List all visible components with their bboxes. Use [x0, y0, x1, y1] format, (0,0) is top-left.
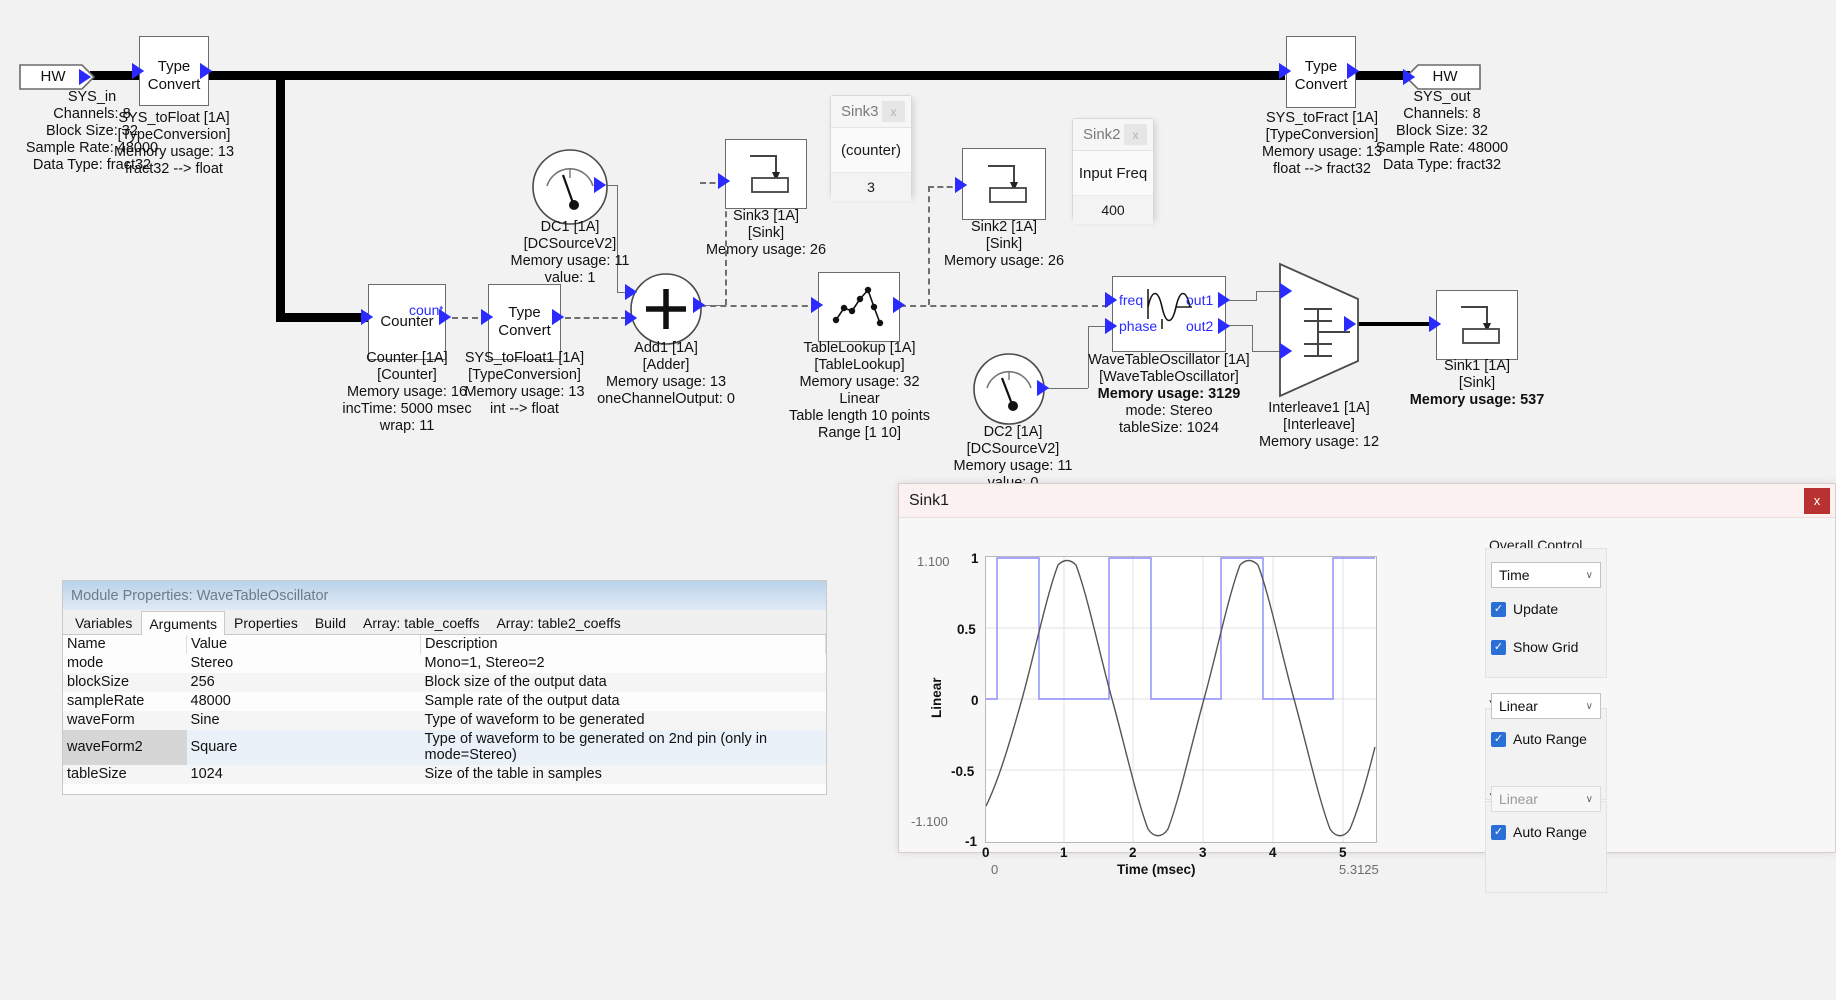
- y-auto-range-row[interactable]: ✓ Auto Range: [1491, 731, 1587, 747]
- scope-titlebar: Sink1 x: [899, 484, 1835, 518]
- sink1-in-port[interactable]: [1430, 317, 1441, 331]
- wire-tofloat1-add1: [565, 317, 627, 319]
- table-row[interactable]: sampleRate 48000 Sample rate of the outp…: [63, 692, 826, 711]
- sys-out-in-port[interactable]: [1404, 70, 1415, 84]
- wto-label-mode: mode: Stereo: [1074, 403, 1264, 420]
- wire-tofract-sysout: [1355, 71, 1410, 80]
- sink3-popup-close-icon[interactable]: x: [882, 101, 905, 122]
- col-header-name: Name: [63, 635, 187, 654]
- counter-out-port[interactable]: [440, 310, 451, 324]
- show-grid-checkbox[interactable]: ✓: [1491, 640, 1506, 655]
- sink2-value-popup[interactable]: Sink2 x Input Freq 400: [1072, 118, 1154, 219]
- tab-variables[interactable]: Variables: [67, 612, 140, 634]
- sink3-in-port[interactable]: [719, 174, 730, 188]
- x-axis-value: Linear: [1499, 791, 1538, 807]
- wire-out1-a: [1226, 300, 1256, 301]
- tab-properties[interactable]: Properties: [226, 612, 306, 634]
- wto-out1-port[interactable]: [1219, 293, 1230, 307]
- scope-body: 1.100 -1.100 0 5.3125 Linear 1 0.5 0 -0.…: [899, 518, 1835, 854]
- interleave1-in2-port[interactable]: [1281, 344, 1292, 358]
- row-name: mode: [63, 654, 187, 673]
- wire-interleave-sink1: [1355, 322, 1430, 326]
- wto-out2-label: out2: [1186, 318, 1213, 334]
- row-name: sampleRate: [63, 692, 187, 711]
- range-top-label: 1.100: [917, 554, 950, 569]
- sys-tofloat-label: SYS_toFloat [1A] [TypeConversion] Memory…: [84, 110, 264, 178]
- tablelookup-in-port[interactable]: [812, 298, 823, 312]
- module-properties-panel[interactable]: Module Properties: WaveTableOscillator V…: [62, 580, 827, 795]
- x-tick-label: 0: [982, 845, 990, 860]
- sys-in-inner-label: HW: [18, 68, 88, 86]
- tablelookup-label: TableLookup [1A] [TableLookup] Memory us…: [772, 340, 947, 442]
- y-axis-title: Linear: [929, 677, 944, 718]
- sink3-popup-value: 3: [831, 173, 911, 201]
- row-value[interactable]: 48000: [187, 692, 421, 711]
- counter-label: Counter [1A] [Counter] Memory usage: 16 …: [322, 350, 492, 435]
- close-icon[interactable]: x: [1804, 488, 1830, 514]
- range-bottom-label: -1.100: [911, 814, 948, 829]
- sink2-popup-close-icon[interactable]: x: [1124, 124, 1147, 145]
- overall-control-select[interactable]: Time ∨: [1491, 562, 1601, 588]
- sys-tofract-inner-label: Type Convert: [1286, 58, 1356, 94]
- wire-out1-v: [1256, 291, 1257, 301]
- x-axis-select[interactable]: Linear ∨: [1491, 786, 1601, 812]
- x-end-label: 5.3125: [1339, 862, 1379, 877]
- row-value[interactable]: 256: [187, 673, 421, 692]
- update-label: Update: [1513, 601, 1558, 617]
- row-value[interactable]: Square: [187, 730, 421, 765]
- overall-control-value: Time: [1499, 567, 1530, 583]
- interleave1-label: Interleave1 [1A] [Interleave] Memory usa…: [1240, 400, 1398, 451]
- sink3-popup-body: (counter): [831, 128, 911, 173]
- dc2-gauge-icon[interactable]: [972, 352, 1046, 426]
- row-name: tableSize: [63, 765, 187, 784]
- x-start-label: 0: [991, 862, 998, 877]
- add1-out-port[interactable]: [694, 298, 705, 312]
- module-properties-title: Module Properties: WaveTableOscillator: [63, 581, 826, 610]
- sys-tofloat1-out-port[interactable]: [553, 310, 564, 324]
- table-row[interactable]: tableSize 1024 Size of the table in samp…: [63, 765, 826, 784]
- wto-out1-label: out1: [1186, 292, 1213, 308]
- y-tick-label: -0.5: [951, 764, 974, 779]
- sink3-label: Sink3 [1A] [Sink] Memory usage: 26: [690, 208, 842, 259]
- wto-label-tablesize: tableSize: 1024: [1074, 420, 1264, 437]
- wto-label-line1: WaveTableOscillator [1A]: [1074, 352, 1264, 369]
- sink3-popup-title: Sink3: [841, 103, 879, 120]
- sink3-value-popup[interactable]: Sink3 x (counter) 3: [830, 95, 912, 196]
- row-name: waveForm: [63, 711, 187, 730]
- y-auto-range-label: Auto Range: [1513, 731, 1587, 747]
- x-auto-range-row[interactable]: ✓ Auto Range: [1491, 824, 1587, 840]
- add1-in1-port[interactable]: [626, 285, 637, 299]
- x-tick-label: 3: [1199, 845, 1207, 860]
- wto-freq-in-port[interactable]: [1106, 293, 1117, 307]
- chevron-down-icon: ∨: [1586, 701, 1593, 712]
- row-value[interactable]: Stereo: [187, 654, 421, 673]
- sys-tofloat1-label: SYS_toFloat1 [1A] [TypeConversion] Memor…: [437, 350, 612, 418]
- add1-label: Add1 [1A] [Adder] Memory usage: 13 oneCh…: [576, 340, 756, 408]
- y-auto-range-checkbox[interactable]: ✓: [1491, 732, 1506, 747]
- row-description: Sample rate of the output data: [421, 692, 826, 711]
- arguments-table: Name Value Description mode Stereo Mono=…: [63, 635, 826, 784]
- sink3-popup-titlebar: Sink3 x: [831, 96, 911, 128]
- sink1-sink-icon: [1455, 303, 1507, 347]
- x-auto-range-label: Auto Range: [1513, 824, 1587, 840]
- dc2-label: DC2 [1A] [DCSourceV2] Memory usage: 11 v…: [928, 424, 1098, 492]
- y-tick-label: 1: [971, 551, 979, 566]
- wire-add1-tablelookup: [700, 305, 818, 307]
- table-header-row: Name Value Description: [63, 635, 826, 654]
- sys-tofloat-inner-label: Type Convert: [139, 58, 209, 94]
- wto-label-memory: Memory usage: 3129: [1074, 386, 1264, 403]
- x-tick-label: 2: [1129, 845, 1137, 860]
- tablelookup-polyline-icon: [830, 280, 888, 334]
- wire-branch-sink2-up: [928, 186, 930, 305]
- scope-title-text: Sink1: [909, 492, 949, 510]
- update-checkbox-row[interactable]: ✓ Update: [1491, 601, 1558, 617]
- sys-tofloat1-in-port[interactable]: [482, 310, 493, 324]
- row-description: Type of waveform to be generated: [421, 711, 826, 730]
- wire-tofloat-bus: [207, 71, 1285, 80]
- tab-build[interactable]: Build: [307, 612, 354, 634]
- wto-phase-in-port[interactable]: [1106, 319, 1117, 333]
- x-tick-label: 1: [1060, 845, 1068, 860]
- wire-bus-to-counter: [276, 313, 368, 322]
- chevron-down-icon: ∨: [1586, 570, 1593, 581]
- tab-array-table-coeffs[interactable]: Array: table_coeffs: [355, 612, 487, 634]
- y-axis-select[interactable]: Linear ∨: [1491, 693, 1601, 719]
- x-axis-group: [1485, 801, 1607, 893]
- col-header-value: Value: [187, 635, 421, 654]
- x-auto-range-checkbox[interactable]: ✓: [1491, 825, 1506, 840]
- dc1-out-port[interactable]: [595, 178, 606, 192]
- tab-arguments[interactable]: Arguments: [141, 611, 225, 635]
- sink2-popup-value: 400: [1073, 196, 1153, 224]
- row-description: Type of waveform to be generated on 2nd …: [421, 730, 826, 765]
- sys-tofloat-out-port[interactable]: [201, 64, 212, 78]
- sys-tofloat-in-port[interactable]: [133, 64, 144, 78]
- wire-bus-drop: [276, 71, 285, 321]
- plot-area[interactable]: [985, 556, 1377, 843]
- table-row[interactable]: waveForm Sine Type of waveform to be gen…: [63, 711, 826, 730]
- sink2-sink-icon: [982, 162, 1034, 206]
- chevron-down-icon: ∨: [1586, 794, 1593, 805]
- row-description: Size of the table in samples: [421, 765, 826, 784]
- sink2-popup-body: Input Freq: [1073, 151, 1153, 196]
- row-name: waveForm2: [63, 730, 187, 765]
- tab-array-table2-coeffs[interactable]: Array: table2_coeffs: [488, 612, 628, 634]
- add1-plus-icon[interactable]: [629, 272, 703, 346]
- col-header-description: Description: [421, 635, 826, 654]
- counter-in-port[interactable]: [362, 310, 373, 324]
- x-tick-label: 5: [1339, 845, 1347, 860]
- wire-dc2-up: [1088, 326, 1089, 388]
- wto-label-line2: [WaveTableOscillator]: [1074, 369, 1264, 386]
- x-tick-label: 4: [1269, 845, 1277, 860]
- sink1-label-memory: Memory usage: 537: [1388, 392, 1566, 409]
- sink1-label-line1: Sink1 [1A]: [1398, 358, 1556, 375]
- app-canvas: HW SYS_in Channels: 8 Block Size: 32 Sam…: [0, 0, 1836, 1000]
- dc2-out-port[interactable]: [1038, 381, 1049, 395]
- row-description: Mono=1, Stereo=2: [421, 654, 826, 673]
- update-checkbox[interactable]: ✓: [1491, 602, 1506, 617]
- interleave1-out-port[interactable]: [1345, 317, 1356, 331]
- y-tick-label: 0.5: [957, 622, 976, 637]
- sink1-scope-window[interactable]: Sink1 x 1.100 -1.100 0 5.3125 Linear 1 0…: [898, 483, 1836, 853]
- row-name: blockSize: [63, 673, 187, 692]
- row-value[interactable]: 1024: [187, 765, 421, 784]
- wire-tablelookup-right: [900, 305, 1108, 307]
- sys-tofract-out-port[interactable]: [1348, 64, 1359, 78]
- wto-out2-port[interactable]: [1219, 319, 1230, 333]
- sink2-popup-title: Sink2: [1083, 126, 1121, 143]
- row-description: Block size of the output data: [421, 673, 826, 692]
- sink3-sink-icon: [744, 152, 796, 196]
- sys-out-label: SYS_out Channels: 8 Block Size: 32 Sampl…: [1352, 89, 1532, 174]
- sys-tofract-label: SYS_toFract [1A] [TypeConversion] Memory…: [1232, 110, 1412, 178]
- sys-in-out-port[interactable]: [80, 70, 91, 84]
- show-grid-label: Show Grid: [1513, 639, 1578, 655]
- y-tick-label: -1: [965, 834, 977, 849]
- module-properties-tabs[interactable]: Variables Arguments Properties Build Arr…: [63, 610, 826, 635]
- wire-dc1-down: [617, 185, 618, 292]
- y-axis-value: Linear: [1499, 698, 1538, 714]
- sink1-label-line2: [Sink]: [1398, 375, 1556, 392]
- sink2-in-port[interactable]: [956, 178, 967, 192]
- x-axis-title: Time (msec): [1117, 862, 1196, 877]
- wto-freq-label: freq: [1119, 292, 1143, 308]
- y-tick-label: 0: [971, 693, 979, 708]
- wire-out2-v: [1252, 325, 1253, 351]
- row-value[interactable]: Sine: [187, 711, 421, 730]
- table-row[interactable]: blockSize 256 Block size of the output d…: [63, 673, 826, 692]
- sink2-popup-titlebar: Sink2 x: [1073, 119, 1153, 151]
- sys-tofract-in-port[interactable]: [1280, 64, 1291, 78]
- sink2-label: Sink2 [1A] [Sink] Memory usage: 26: [928, 219, 1080, 270]
- table-row[interactable]: mode Stereo Mono=1, Stereo=2: [63, 654, 826, 673]
- show-grid-checkbox-row[interactable]: ✓ Show Grid: [1491, 639, 1578, 655]
- tablelookup-out-port[interactable]: [894, 298, 905, 312]
- add1-in2-port[interactable]: [626, 311, 637, 325]
- interleave1-in1-port[interactable]: [1281, 284, 1292, 298]
- sys-out-inner-label: HW: [1410, 68, 1480, 86]
- sys-tofloat1-inner-label: Type Convert: [488, 304, 561, 340]
- table-row-selected[interactable]: waveForm2 Square Type of waveform to be …: [63, 730, 826, 765]
- wire-dc2-out: [1046, 388, 1088, 389]
